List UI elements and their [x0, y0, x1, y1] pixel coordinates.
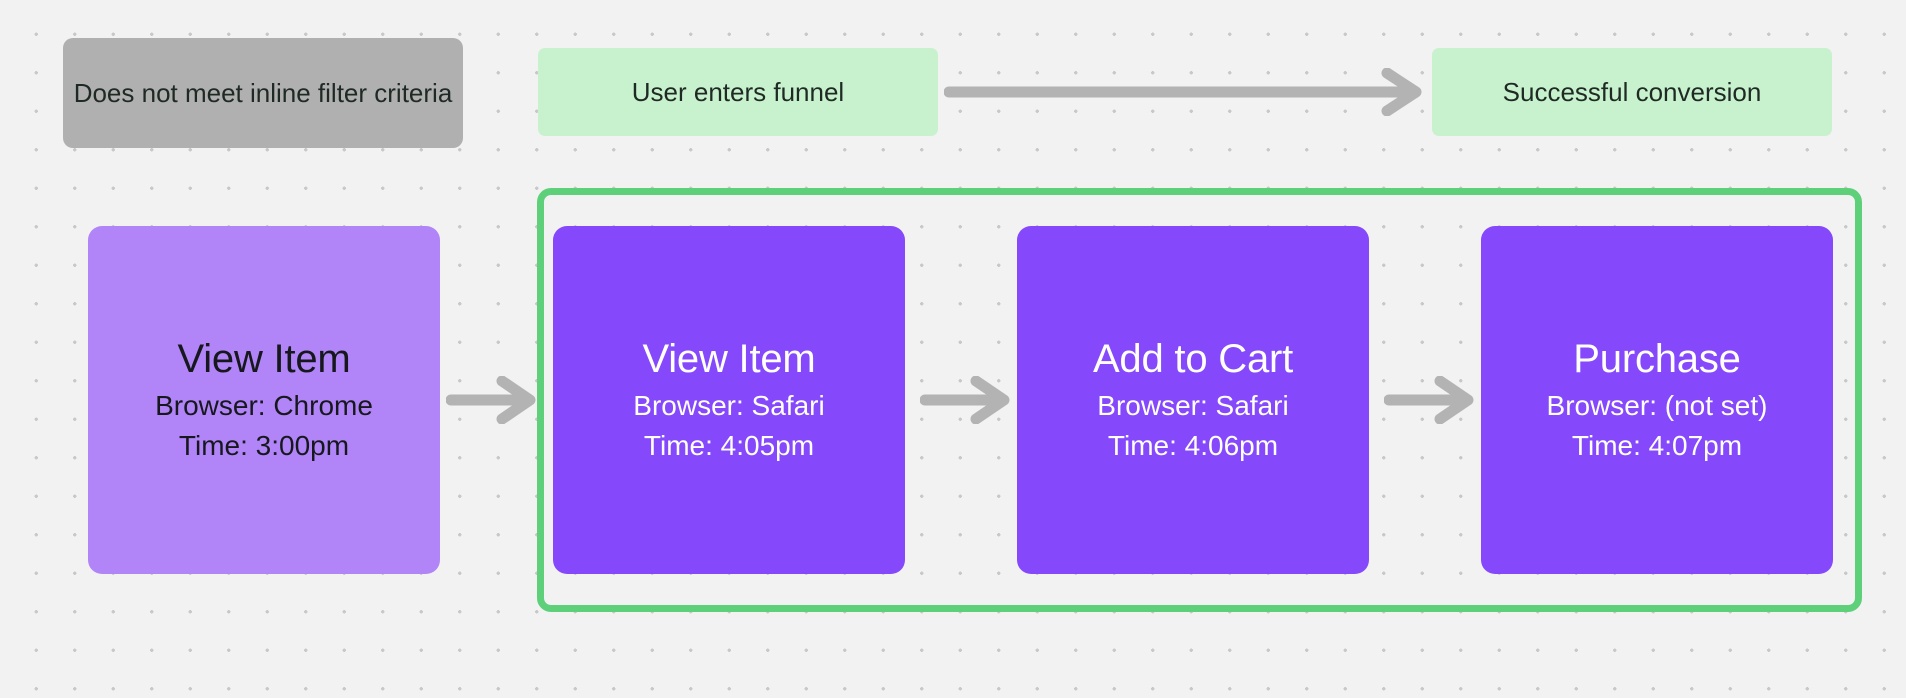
diagram-canvas: Does not meet inline filter criteria Use… [0, 0, 1906, 698]
event-card-browser: Browser: Safari [633, 386, 824, 426]
event-card-view-item-safari[interactable]: View Item Browser: Safari Time: 4:05pm [553, 226, 905, 574]
event-card-view-item-chrome[interactable]: View Item Browser: Chrome Time: 3:00pm [88, 226, 440, 574]
event-card-title: Purchase [1573, 334, 1740, 384]
event-card-add-to-cart[interactable]: Add to Cart Browser: Safari Time: 4:06pm [1017, 226, 1369, 574]
event-card-time: Time: 4:07pm [1572, 426, 1742, 466]
event-card-browser: Browser: Chrome [155, 386, 373, 426]
arrow-card2-to-card3 [920, 376, 1012, 424]
event-card-browser: Browser: Safari [1097, 386, 1288, 426]
event-card-title: Add to Cart [1093, 334, 1293, 384]
note-successful-conversion-label: Successful conversion [1503, 75, 1762, 109]
arrow-card1-to-card2 [446, 376, 538, 424]
event-card-title: View Item [177, 334, 350, 384]
note-user-enters-funnel: User enters funnel [538, 48, 938, 136]
arrow-entry-to-conversion [944, 68, 1429, 116]
note-successful-conversion: Successful conversion [1432, 48, 1832, 136]
arrow-card3-to-card4 [1384, 376, 1476, 424]
note-user-enters-funnel-label: User enters funnel [632, 75, 844, 109]
note-does-not-meet-filter: Does not meet inline filter criteria [63, 38, 463, 148]
note-does-not-meet-filter-label: Does not meet inline filter criteria [74, 75, 453, 111]
event-card-time: Time: 3:00pm [179, 426, 349, 466]
event-card-time: Time: 4:05pm [644, 426, 814, 466]
event-card-browser: Browser: (not set) [1547, 386, 1768, 426]
event-card-time: Time: 4:06pm [1108, 426, 1278, 466]
event-card-purchase[interactable]: Purchase Browser: (not set) Time: 4:07pm [1481, 226, 1833, 574]
event-card-title: View Item [642, 334, 815, 384]
